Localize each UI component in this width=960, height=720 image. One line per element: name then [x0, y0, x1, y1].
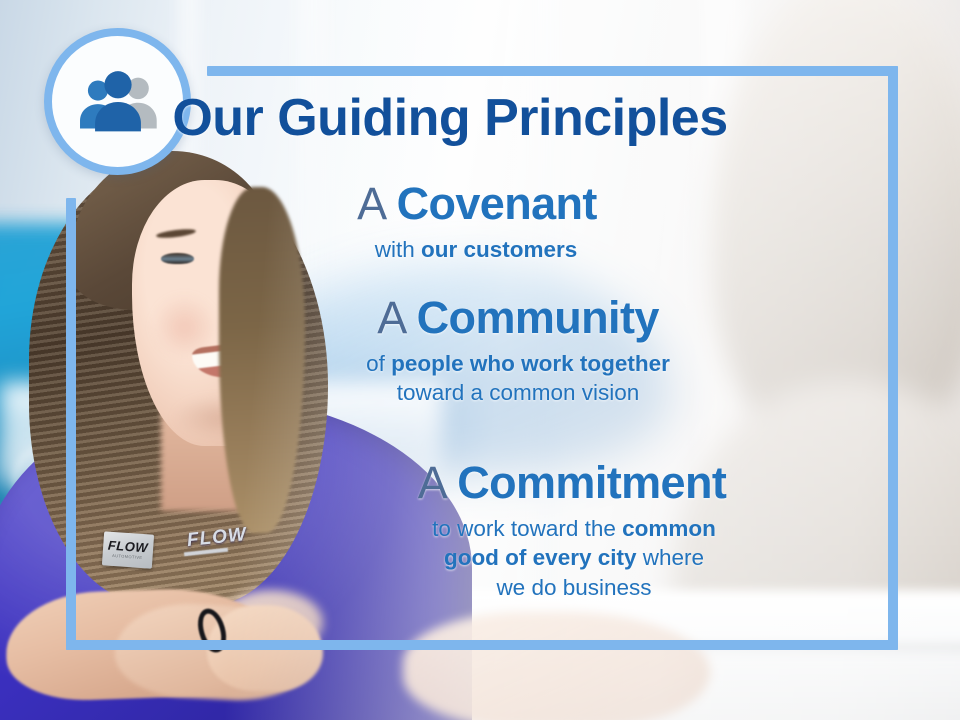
people-badge — [44, 28, 191, 175]
nametag-subtext: AUTOMOTIVE — [111, 553, 142, 560]
frame-top-edge — [207, 66, 898, 76]
blurred-customer — [691, 0, 960, 605]
employee-nametag: FLOW AUTOMOTIVE — [101, 531, 153, 568]
frame-right-edge — [888, 66, 898, 650]
employee-eye — [161, 253, 193, 264]
frame-bottom-edge — [66, 640, 898, 650]
nametag-brand: FLOW — [107, 539, 148, 555]
frame-left-edge — [66, 198, 76, 650]
customer-hands — [403, 612, 710, 720]
people-group-icon — [75, 71, 161, 133]
guiding-principles-graphic: FLOW AUTOMOTIVE FLOW Our Guiding Princip… — [0, 0, 960, 720]
